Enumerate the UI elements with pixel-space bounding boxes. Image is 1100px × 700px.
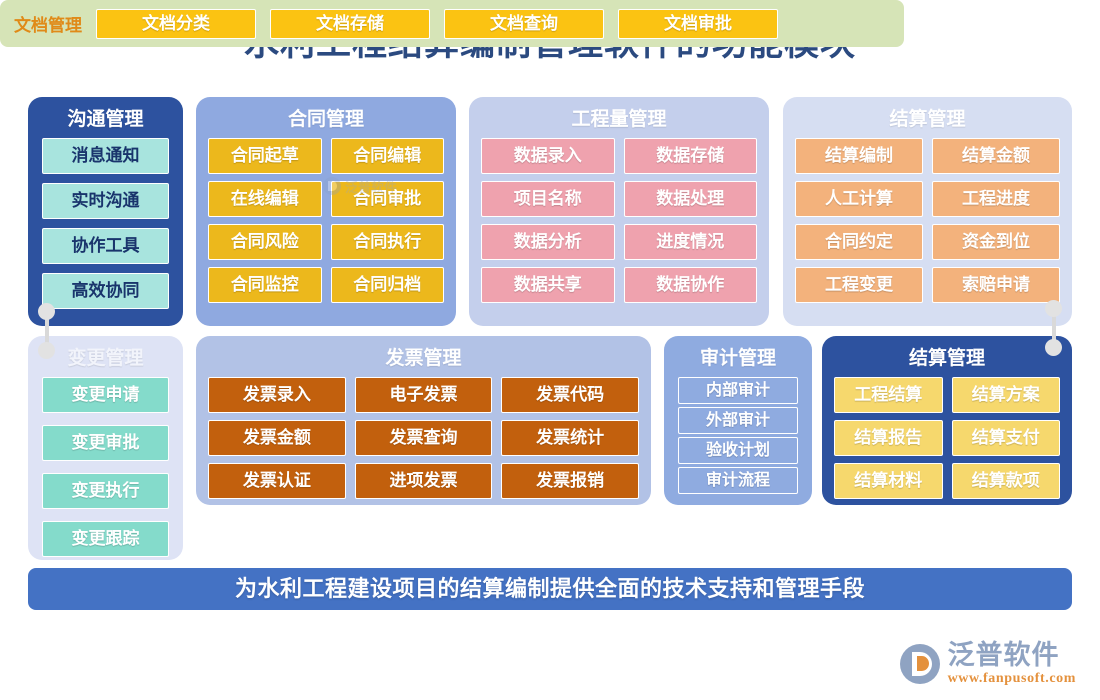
module-chip[interactable]: 数据协作: [624, 267, 758, 303]
module-chip[interactable]: 内部审计: [678, 377, 798, 404]
module-chip[interactable]: 外部审计: [678, 407, 798, 434]
module-chip[interactable]: 结算方案: [952, 377, 1061, 413]
panel-contract[interactable]: 合同管理 合同起草 合同编辑 在线编辑 合同审批 合同风险 合同执行 合同监控 …: [196, 97, 456, 326]
module-chip[interactable]: 变更审批: [42, 425, 169, 461]
module-chip[interactable]: 发票查询: [355, 420, 493, 456]
panel-items-audit: 内部审计 外部审计 验收计划 审计流程: [664, 377, 812, 504]
module-chip[interactable]: 合同审批: [331, 181, 445, 217]
connector-left: [36, 303, 58, 359]
connector-dot-bottom: [1045, 339, 1062, 356]
module-chip[interactable]: 数据处理: [624, 181, 758, 217]
module-chip[interactable]: 合同归档: [331, 267, 445, 303]
module-chip[interactable]: 文档存储: [270, 9, 430, 39]
module-chip[interactable]: 结算款项: [952, 463, 1061, 499]
panel-title-communication: 沟通管理: [28, 97, 183, 138]
panel-settlement-bottom[interactable]: 结算管理 工程结算 结算方案 结算报告 结算支付 结算材料 结算款项: [822, 336, 1072, 505]
module-chip[interactable]: 数据录入: [481, 138, 615, 174]
brand-url: www.fanpusoft.com: [948, 672, 1076, 686]
panel-invoice[interactable]: 发票管理 发票录入 电子发票 发票代码 发票金额 发票查询 发票统计 发票认证 …: [196, 336, 651, 505]
module-chip[interactable]: 文档审批: [618, 9, 778, 39]
panel-quantity[interactable]: 工程量管理 数据录入 数据存储 项目名称 数据处理 数据分析 进度情况 数据共享…: [469, 97, 769, 326]
module-chip[interactable]: 进项发票: [355, 463, 493, 499]
module-chip[interactable]: 文档查询: [444, 9, 604, 39]
module-chip[interactable]: 变更执行: [42, 473, 169, 509]
panel-title-contract: 合同管理: [196, 97, 456, 138]
module-chip[interactable]: 变更申请: [42, 377, 169, 413]
panel-items-contract: 合同起草 合同编辑 在线编辑 合同审批 合同风险 合同执行 合同监控 合同归档: [196, 138, 456, 315]
module-chip[interactable]: 协作工具: [42, 228, 169, 264]
module-chip[interactable]: 高效协同: [42, 273, 169, 309]
module-chip[interactable]: 项目名称: [481, 181, 615, 217]
module-chip[interactable]: 发票认证: [208, 463, 346, 499]
module-chip[interactable]: 工程变更: [795, 267, 923, 303]
module-chip[interactable]: 进度情况: [624, 224, 758, 260]
brand-name: 泛普软件: [948, 642, 1076, 669]
module-chip[interactable]: 索赔申请: [932, 267, 1060, 303]
module-chip[interactable]: 工程进度: [932, 181, 1060, 217]
panel-items-change: 变更申请 变更审批 变更执行 变更跟踪: [28, 377, 183, 571]
panel-audit[interactable]: 审计管理 内部审计 外部审计 验收计划 审计流程: [664, 336, 812, 505]
footer-banner: 为水利工程建设项目的结算编制提供全面的技术支持和管理手段: [28, 568, 1072, 610]
module-chip[interactable]: 发票金额: [208, 420, 346, 456]
panel-title-invoice: 发票管理: [196, 336, 651, 377]
module-chip[interactable]: 在线编辑: [208, 181, 322, 217]
panel-items-settlement-bottom: 工程结算 结算方案 结算报告 结算支付 结算材料 结算款项: [822, 377, 1072, 511]
module-chip[interactable]: 结算支付: [952, 420, 1061, 456]
module-chip[interactable]: 文档分类: [96, 9, 256, 39]
module-chip[interactable]: 变更跟踪: [42, 521, 169, 557]
connector-dot-top: [1045, 300, 1062, 317]
module-chip[interactable]: 合同监控: [208, 267, 322, 303]
panel-title-document: 文档管理: [14, 11, 82, 36]
module-chip[interactable]: 发票代码: [501, 377, 639, 413]
module-chip[interactable]: 数据存储: [624, 138, 758, 174]
panel-title-quantity: 工程量管理: [469, 97, 769, 138]
panel-settlement-top[interactable]: 结算管理 结算编制 结算金额 人工计算 工程进度 合同约定 资金到位 工程变更 …: [783, 97, 1072, 326]
module-chip[interactable]: 消息通知: [42, 138, 169, 174]
module-chip[interactable]: 数据共享: [481, 267, 615, 303]
module-chip[interactable]: 结算金额: [932, 138, 1060, 174]
module-chip[interactable]: 合同风险: [208, 224, 322, 260]
panel-items-quantity: 数据录入 数据存储 项目名称 数据处理 数据分析 进度情况 数据共享 数据协作: [469, 138, 769, 315]
panel-document[interactable]: 文档管理 文档分类 文档存储 文档查询 文档审批: [0, 0, 904, 47]
panel-title-settlement-bottom: 结算管理: [822, 336, 1072, 377]
module-chip[interactable]: 合同编辑: [331, 138, 445, 174]
module-chip[interactable]: 结算材料: [834, 463, 943, 499]
module-chip[interactable]: 资金到位: [932, 224, 1060, 260]
brand-logo-icon: [900, 644, 940, 684]
module-chip[interactable]: 结算报告: [834, 420, 943, 456]
module-chip[interactable]: 发票报销: [501, 463, 639, 499]
module-chip[interactable]: 发票统计: [501, 420, 639, 456]
brand-logo-texts: 泛普软件 www.fanpusoft.com: [948, 642, 1076, 686]
module-chip[interactable]: 实时沟通: [42, 183, 169, 219]
panel-items-invoice: 发票录入 电子发票 发票代码 发票金额 发票查询 发票统计 发票认证 进项发票 …: [196, 377, 651, 511]
module-chip[interactable]: 发票录入: [208, 377, 346, 413]
panel-title-audit: 审计管理: [664, 336, 812, 377]
module-chip[interactable]: 电子发票: [355, 377, 493, 413]
module-chip[interactable]: 人工计算: [795, 181, 923, 217]
module-chip[interactable]: 验收计划: [678, 437, 798, 464]
module-chip[interactable]: 工程结算: [834, 377, 943, 413]
panel-communication[interactable]: 沟通管理 消息通知 实时沟通 协作工具 高效协同: [28, 97, 183, 326]
connector-right: [1043, 300, 1065, 356]
panel-items-communication: 消息通知 实时沟通 协作工具 高效协同: [28, 138, 183, 323]
panel-change[interactable]: 变更管理 变更申请 变更审批 变更执行 变更跟踪: [28, 336, 183, 560]
brand-logo: 泛普软件 www.fanpusoft.com: [900, 642, 1076, 686]
functional-module-diagram: 沟通管理 消息通知 实时沟通 协作工具 高效协同 合同管理 合同起草 合同编辑 …: [0, 0, 1100, 700]
module-chip[interactable]: 审计流程: [678, 467, 798, 494]
panel-items-settlement-top: 结算编制 结算金额 人工计算 工程进度 合同约定 资金到位 工程变更 索赔申请: [783, 138, 1072, 315]
connector-dot-bottom: [38, 342, 55, 359]
panel-title-settlement-top: 结算管理: [783, 97, 1072, 138]
module-chip[interactable]: 数据分析: [481, 224, 615, 260]
module-chip[interactable]: 合同约定: [795, 224, 923, 260]
connector-dot-top: [38, 303, 55, 320]
module-chip[interactable]: 合同执行: [331, 224, 445, 260]
module-chip[interactable]: 合同起草: [208, 138, 322, 174]
module-chip[interactable]: 结算编制: [795, 138, 923, 174]
